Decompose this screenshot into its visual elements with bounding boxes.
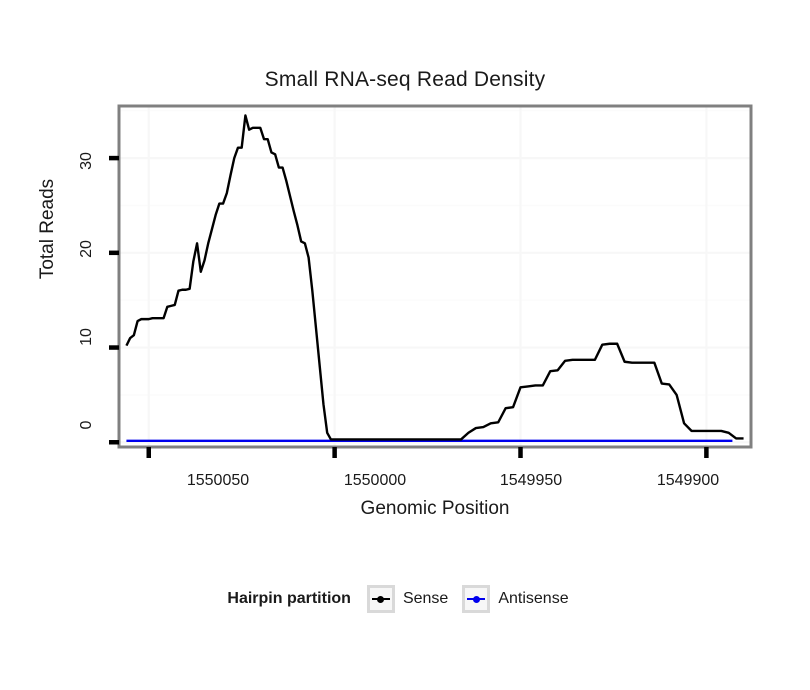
panel-border: [119, 106, 751, 447]
chart-title: Small RNA-seq Read Density: [0, 68, 810, 92]
y-tick-label-30: 30: [78, 141, 96, 181]
y-tick-label-20: 20: [78, 229, 96, 269]
legend-key-antisense: [462, 585, 490, 613]
x-tick-label-1549900: 1549900: [628, 472, 748, 490]
x-tick-label-1549950: 1549950: [471, 472, 591, 490]
legend-title: Hairpin partition: [227, 590, 351, 608]
legend-key-sense: [367, 585, 395, 613]
legend-label-sense: Sense: [403, 590, 448, 608]
x-tick-label-1550000: 1550000: [315, 472, 435, 490]
y-tick-label-10: 10: [78, 317, 96, 357]
legend-entry-sense[interactable]: Sense: [367, 585, 448, 613]
legend-point-icon: [473, 596, 480, 603]
gridlines: [119, 106, 751, 447]
y-axis-label: Total Reads: [37, 129, 59, 329]
legend-entry-antisense[interactable]: Antisense: [462, 585, 568, 613]
panel-background: [119, 106, 751, 447]
series-line-sense: [126, 115, 743, 439]
legend: Hairpin partition Sense Antisense: [0, 585, 810, 613]
x-axis-label: Genomic Position: [119, 498, 751, 520]
axis-ticks: [109, 158, 706, 458]
legend-label-antisense: Antisense: [498, 590, 568, 608]
chart-figure: Small RNA-seq Read Density Total Reads G…: [0, 0, 810, 690]
y-tick-label-0: 0: [78, 405, 96, 445]
legend-point-icon: [377, 596, 384, 603]
x-tick-label-1550050: 1550050: [158, 472, 278, 490]
